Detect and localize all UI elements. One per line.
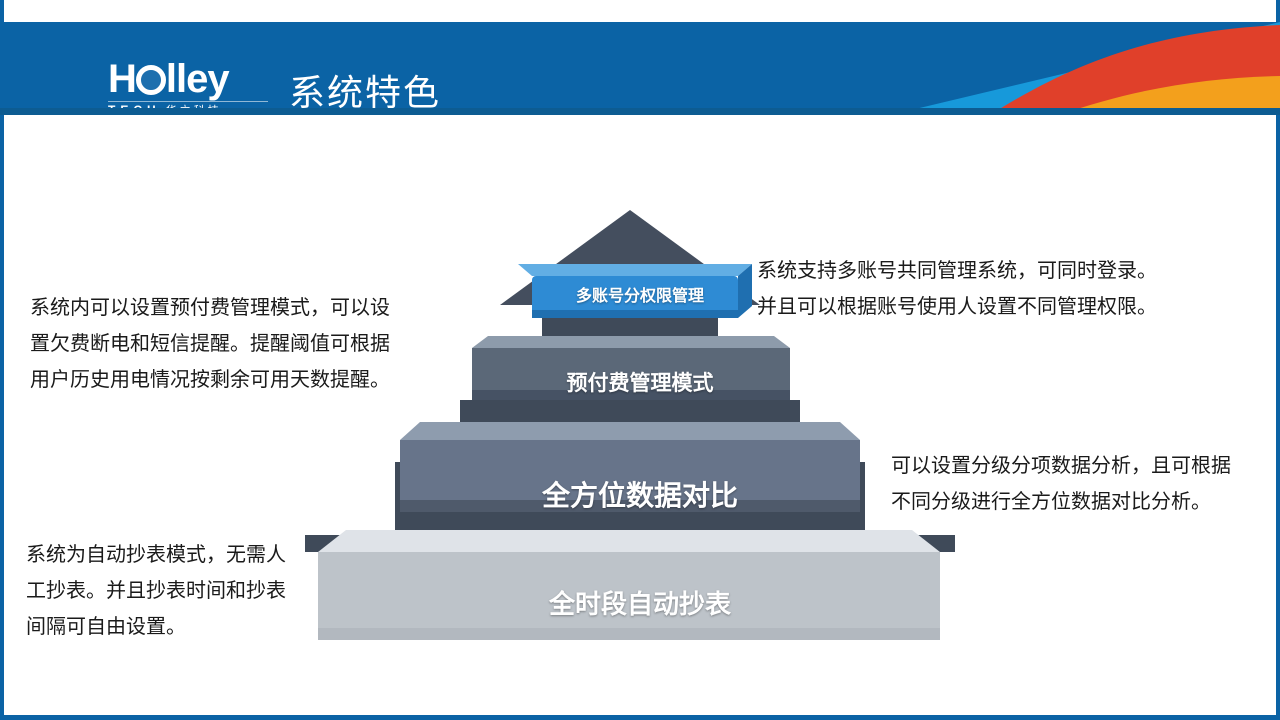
annotation-line: 并且可以根据账号使用人设置不同管理权限。 — [757, 289, 1187, 325]
logo-wordmark: Hlley — [108, 59, 268, 99]
annotation-line: 用户历史用电情况按剩余可用天数提醒。 — [30, 362, 440, 398]
annotation-line: 置欠费断电和短信提醒。提醒阈值可根据 — [30, 326, 440, 362]
annotation-line: 可以设置分级分项数据分析，且可根据 — [891, 448, 1280, 484]
annotation-line: 间隔可自由设置。 — [26, 609, 326, 645]
logo-word-part1: H — [108, 57, 136, 101]
annotation-prepaid-mode: 系统内可以设置预付费管理模式，可以设 置欠费断电和短信提醒。提醒阈值可根据 用户… — [30, 290, 440, 398]
logo-o-mark — [136, 65, 166, 95]
annotation-auto-meter-reading: 系统为自动抄表模式，无需人 工抄表。并且抄表时间和抄表 间隔可自由设置。 — [26, 537, 326, 645]
header-wave-graphic — [740, 22, 1280, 115]
brand-logo: Hlley TECH 华立科技 — [108, 59, 268, 115]
annotation-line: 系统内可以设置预付费管理模式，可以设 — [30, 290, 440, 326]
logo-word-part2: lley — [166, 57, 229, 101]
annotation-line: 工抄表。并且抄表时间和抄表 — [26, 573, 326, 609]
header-underline — [0, 108, 1280, 115]
slide-canvas: Hlley TECH 华立科技 系统特色 — [0, 0, 1280, 720]
annotation-data-comparison: 可以设置分级分项数据分析，且可根据 不同分级进行全方位数据对比分析。 — [891, 448, 1280, 520]
logo-divider — [108, 101, 268, 102]
annotation-line: 系统支持多账号共同管理系统，可同时登录。 — [757, 253, 1187, 289]
slide-frame-bottom — [0, 715, 1280, 720]
annotation-line: 不同分级进行全方位数据对比分析。 — [891, 484, 1280, 520]
annotation-multi-account: 系统支持多账号共同管理系统，可同时登录。 并且可以根据账号使用人设置不同管理权限… — [757, 253, 1187, 325]
annotation-line: 系统为自动抄表模式，无需人 — [26, 537, 326, 573]
slide-frame-top — [0, 0, 1280, 2]
slide-header: Hlley TECH 华立科技 系统特色 — [0, 22, 1280, 115]
